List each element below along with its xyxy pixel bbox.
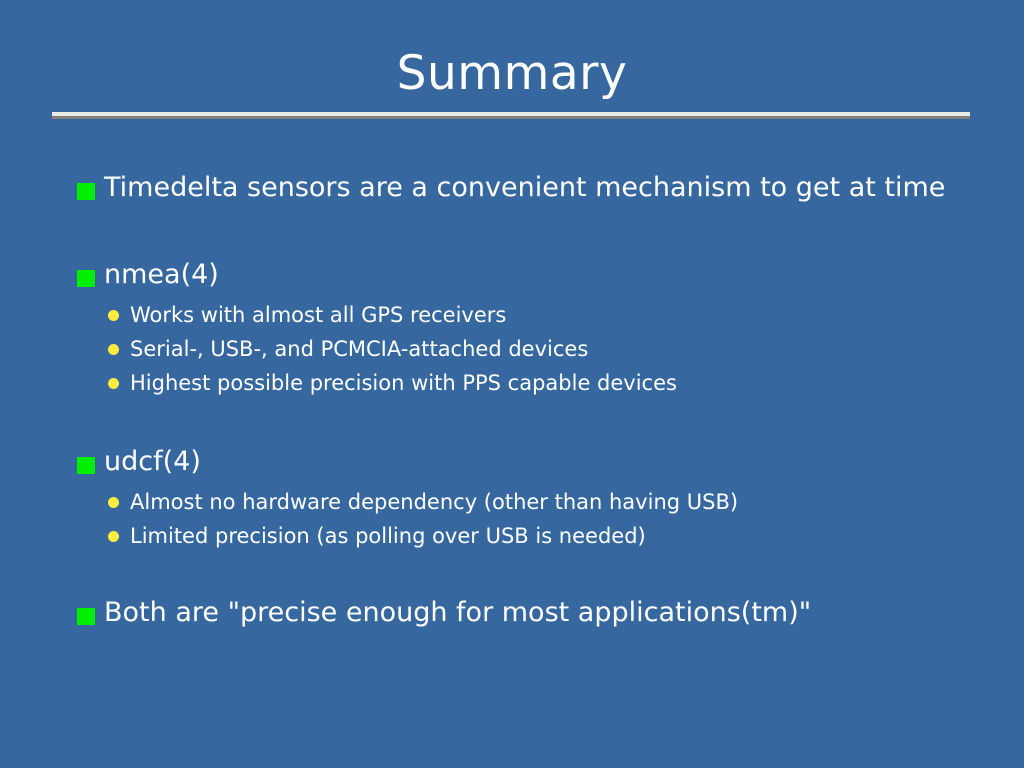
sub-bullet-text: Almost no hardware dependency (other tha… bbox=[130, 490, 738, 514]
bullet-text: Both are "precise enough for most applic… bbox=[104, 597, 811, 628]
bullet-text: Timedelta sensors are a convenient mecha… bbox=[104, 172, 945, 203]
yellow-dot-bullet-icon bbox=[108, 497, 119, 508]
sub-bullet-text: Highest possible precision with PPS capa… bbox=[130, 371, 677, 395]
green-square-bullet-icon bbox=[77, 183, 95, 200]
green-square-bullet-icon bbox=[77, 270, 95, 287]
sub-bullet-text: Serial-, USB-, and PCMCIA-attached devic… bbox=[130, 337, 588, 361]
bullet-text: nmea(4) bbox=[104, 259, 219, 290]
sub-bullet-list: Works with almost all GPS receivers Seri… bbox=[72, 298, 972, 400]
bullet-item-level2: Works with almost all GPS receivers bbox=[72, 298, 972, 332]
bullet-text: udcf(4) bbox=[104, 446, 201, 477]
bullet-item-level1: Timedelta sensors are a convenient mecha… bbox=[72, 168, 972, 207]
green-square-bullet-icon bbox=[77, 457, 95, 474]
bullet-item-level1: Both are "precise enough for most applic… bbox=[72, 593, 972, 632]
yellow-dot-bullet-icon bbox=[108, 378, 119, 389]
yellow-dot-bullet-icon bbox=[108, 310, 119, 321]
spacer bbox=[72, 207, 972, 255]
slide-title: Summary bbox=[0, 46, 1024, 102]
sub-bullet-text: Limited precision (as polling over USB i… bbox=[130, 524, 646, 548]
yellow-dot-bullet-icon bbox=[108, 344, 119, 355]
green-square-bullet-icon bbox=[77, 608, 95, 625]
bullet-item-level2: Highest possible precision with PPS capa… bbox=[72, 366, 972, 400]
slide-body: Timedelta sensors are a convenient mecha… bbox=[72, 168, 972, 632]
sub-bullet-text: Works with almost all GPS receivers bbox=[130, 303, 506, 327]
bullet-item-level2: Serial-, USB-, and PCMCIA-attached devic… bbox=[72, 332, 972, 366]
bullet-item-level1: udcf(4) bbox=[72, 442, 972, 481]
bullet-item-level2: Limited precision (as polling over USB i… bbox=[72, 519, 972, 553]
sub-bullet-list: Almost no hardware dependency (other tha… bbox=[72, 485, 972, 553]
bullet-item-level1: nmea(4) bbox=[72, 255, 972, 294]
bullet-item-level2: Almost no hardware dependency (other tha… bbox=[72, 485, 972, 519]
yellow-dot-bullet-icon bbox=[108, 531, 119, 542]
title-divider-rule bbox=[52, 112, 970, 119]
spacer bbox=[72, 553, 972, 593]
presentation-slide: Summary Timedelta sensors are a convenie… bbox=[0, 0, 1024, 768]
divider-shadow-line bbox=[52, 116, 970, 119]
spacer bbox=[72, 400, 972, 442]
